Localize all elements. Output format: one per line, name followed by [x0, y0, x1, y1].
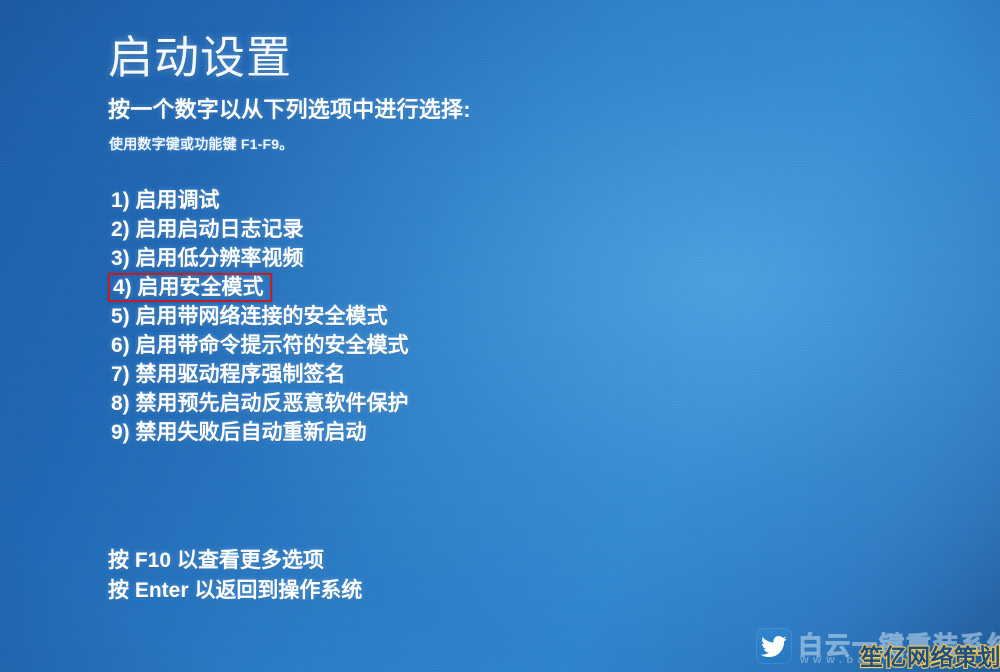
twitter-bird-icon [756, 628, 792, 664]
boot-option-label: 1) 启用调试 [111, 186, 220, 215]
boot-option-3[interactable]: 3) 启用低分辨率视频 [111, 244, 811, 273]
boot-option-4-highlighted[interactable]: 4) 启用安全模式 [111, 273, 811, 302]
boot-option-label: 5) 启用带网络连接的安全模式 [111, 302, 388, 331]
watermark-area: 白云一键重装系统 www.baiy 笙亿网络策划 [752, 626, 1000, 672]
boot-option-label: 6) 启用带命令提示符的安全模式 [111, 331, 409, 360]
footer-more-options-line: 按 F10 以查看更多选项 [108, 546, 362, 576]
boot-option-6[interactable]: 6) 启用带命令提示符的安全模式 [111, 331, 811, 360]
startup-settings-screen: 启动设置 按一个数字以从下列选项中进行选择: 使用数字键或功能键 F1-F9。 … [0, 0, 1000, 672]
boot-options-list: 1) 启用调试 2) 启用启动日志记录 3) 启用低分辨率视频 4) 启用安全模… [111, 186, 811, 447]
boot-option-label: 7) 禁用驱动程序强制签名 [111, 360, 346, 389]
selection-prompt: 按一个数字以从下列选项中进行选择: [108, 92, 471, 124]
content-container: 启动设置 按一个数字以从下列选项中进行选择: 使用数字键或功能键 F1-F9。 … [108, 0, 968, 672]
footer-return-os-line: 按 Enter 以返回到操作系统 [108, 576, 362, 606]
boot-option-5[interactable]: 5) 启用带网络连接的安全模式 [111, 302, 811, 331]
boot-option-7[interactable]: 7) 禁用驱动程序强制签名 [111, 360, 811, 389]
boot-option-label: 2) 启用启动日志记录 [111, 215, 304, 244]
boot-option-label: 8) 禁用预先启动反恶意软件保护 [111, 389, 409, 418]
page-title: 启动设置 [108, 21, 292, 86]
boot-option-9[interactable]: 9) 禁用失败后自动重新启动 [111, 418, 811, 447]
boot-option-2[interactable]: 2) 启用启动日志记录 [111, 215, 811, 244]
boot-option-label: 4) 启用安全模式 [108, 273, 272, 302]
keyboard-hint: 使用数字键或功能键 F1-F9。 [109, 134, 293, 154]
boot-option-label: 3) 启用低分辨率视频 [111, 244, 304, 273]
boot-option-label: 9) 禁用失败后自动重新启动 [111, 418, 367, 447]
footer-instructions: 按 F10 以查看更多选项 按 Enter 以返回到操作系统 [108, 546, 362, 606]
boot-option-1[interactable]: 1) 启用调试 [111, 186, 811, 215]
overlay-watermark: 笙亿网络策划 [860, 638, 1000, 672]
boot-option-8[interactable]: 8) 禁用预先启动反恶意软件保护 [111, 389, 811, 418]
